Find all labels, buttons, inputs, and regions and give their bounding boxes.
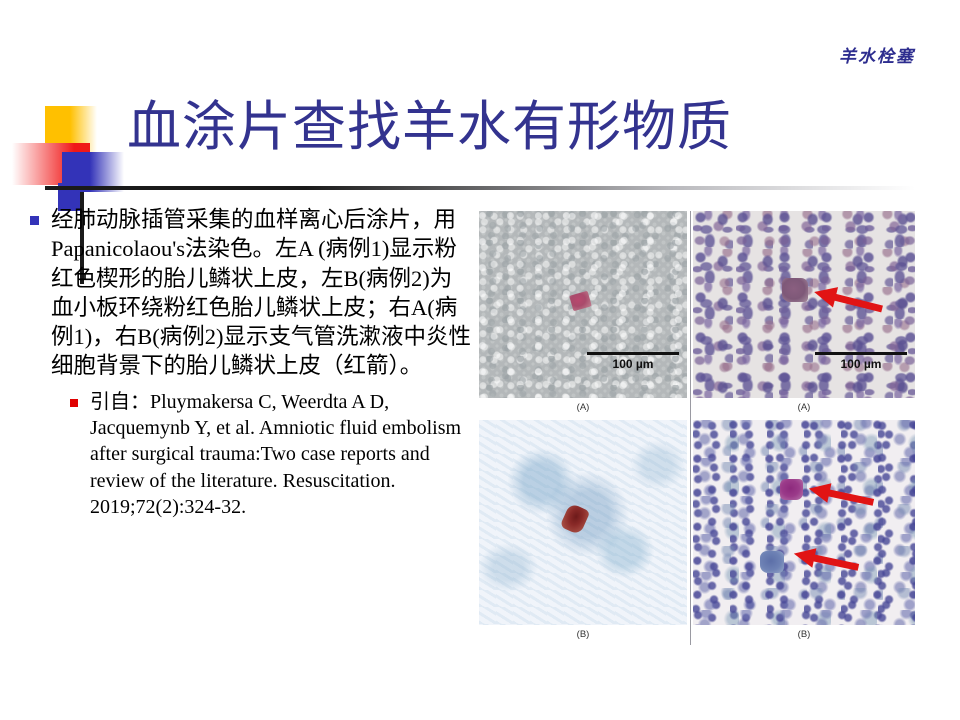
panel-caption: (A) [479,398,687,418]
micrograph-image-bottom-right [693,420,915,625]
scale-bar: 100 µm [815,352,907,372]
content-text-column: 经肺动脉插管采集的血样离心后涂片，用Papanicolaou's法染色。左A (… [20,205,472,520]
micrograph-panel-top-left: 100 µm (A) [479,211,687,418]
micrograph-image-top-right: 100 µm [693,211,915,398]
red-arrow-icon-upper [806,482,876,510]
squamous-cell-marker-lower [760,551,784,573]
square-bullet-icon [30,216,39,225]
micrograph-texture [693,420,915,625]
scale-bar-label: 100 µm [815,357,907,372]
main-bullet-text: 经肺动脉插管采集的血样离心后涂片，用Papanicolaou's法染色。左A (… [51,205,472,381]
micrograph-panel-bottom-left: (B) [479,420,687,645]
panel-caption: (B) [693,625,915,645]
micrograph-image-top-left: 100 µm [479,211,687,398]
squamous-cell-marker-upper [780,479,803,500]
scale-bar-line [815,352,907,355]
micrograph-panel-bottom-right: (B) [693,420,915,645]
red-arrow-icon [811,286,885,316]
micrograph-image-bottom-left [479,420,687,625]
page-title: 血涂片查找羊水有形物质 [127,100,732,154]
scale-bar-line [587,352,679,355]
sub-list: 引自：Pluymakersa C, Weerdta A D, Jacquemyn… [20,389,472,521]
panel-caption: (A) [693,398,915,418]
square-bullet-icon [70,399,78,407]
panel-caption: (B) [479,625,687,645]
title-underline [45,186,915,190]
red-arrow-icon-lower [791,547,861,575]
micrograph-grid: 100 µm (A) 100 µm ( [479,211,915,645]
micrograph-panel-top-right: 100 µm (A) [693,211,915,418]
squamous-cell-marker [782,278,808,302]
scale-bar: 100 µm [587,352,679,372]
micrograph-figure-block: 100 µm (A) 100 µm ( [479,211,915,645]
slide-kicker: 羊水栓塞 [839,42,915,67]
list-item: 经肺动脉插管采集的血样离心后涂片，用Papanicolaou's法染色。左A (… [20,205,472,381]
scale-bar-label: 100 µm [587,357,679,372]
citation-text: 引自：Pluymakersa C, Weerdta A D, Jacquemyn… [90,389,472,521]
panel-column-divider [690,211,691,645]
list-item: 引自：Pluymakersa C, Weerdta A D, Jacquemyn… [70,389,472,521]
